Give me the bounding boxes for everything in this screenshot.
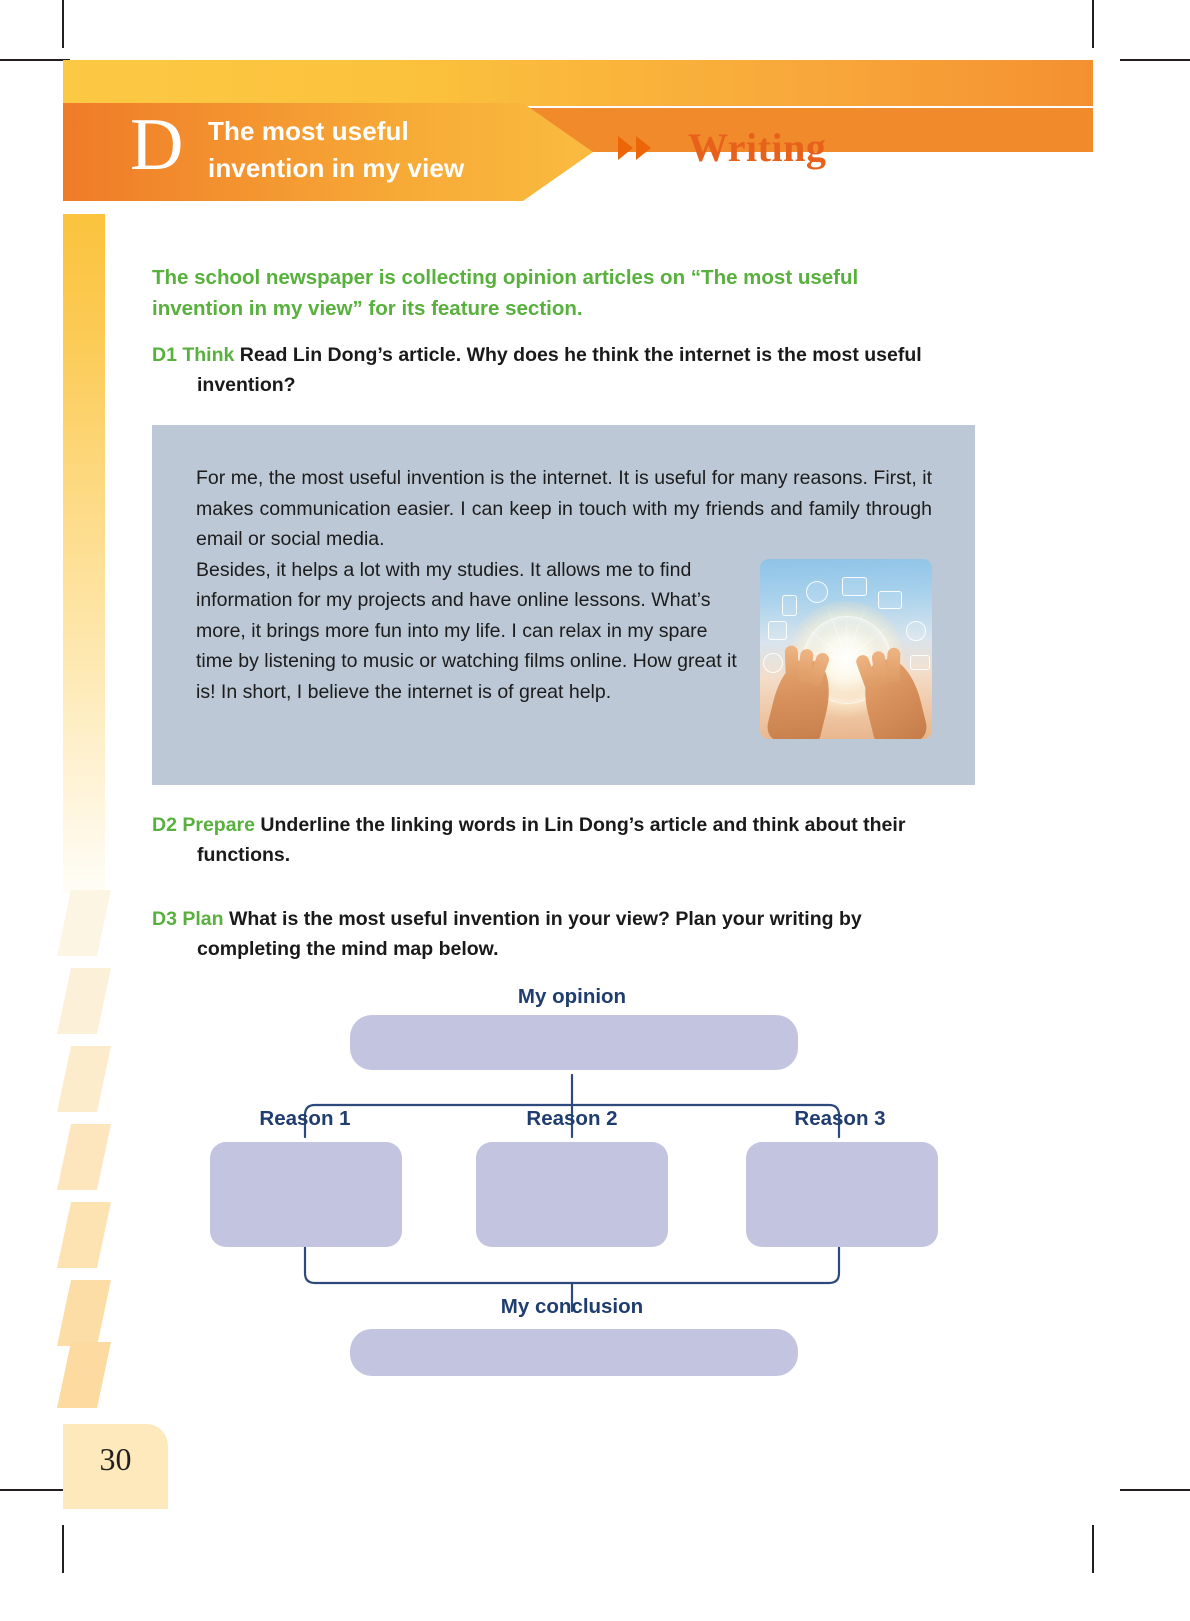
mind-map-reason-3-label: Reason 3 [770,1107,910,1131]
sidebar-stripe [57,890,111,956]
mind-map-conclusion-box[interactable] [350,1329,798,1376]
mind-map-conclusion-label: My conclusion [492,1295,652,1319]
keyboard-icon [910,655,930,670]
camera-icon [906,621,926,641]
unit-title: The most useful invention in my view [208,113,553,187]
sidebar-stripe [57,1124,111,1190]
mind-map: My opinion Reason 1 Reason 2 Reason 3 My… [195,985,965,1385]
mind-map-opinion-label: My opinion [512,985,632,1009]
crop-mark-top-right-horizontal [1120,59,1190,61]
laptop-icon [878,591,902,609]
task-d1-code: D1 [152,344,177,366]
sidebar-stripe [57,1046,111,1112]
sidebar-stripe-pattern [63,890,109,1400]
crop-mark-top-right-vertical [1092,0,1094,48]
sidebar-stripe [57,1342,111,1408]
task-d3-body: What is the most useful invention in you… [197,908,862,960]
page-number: 30 [63,1441,168,1478]
task-d3: D3 Plan What is the most useful inventio… [152,904,962,964]
task-d2-body: Underline the linking words in Lin Dong’… [197,814,905,866]
monitor-icon [842,577,867,596]
mind-map-reason-3-box[interactable] [746,1142,938,1247]
crop-mark-bottom-left-horizontal [0,1489,70,1491]
crop-mark-bottom-right-vertical [1092,1525,1094,1573]
sidebar-stripe [57,968,111,1034]
crop-mark-bottom-right-horizontal [1120,1489,1190,1491]
crop-mark-bottom-left-vertical [62,1525,64,1573]
internet-network-image [760,559,932,739]
header-band-yellow [63,60,1093,106]
sidebar-stripe [57,1202,111,1268]
task-d1-body: Read Lin Dong’s article. Why does he thi… [197,344,922,396]
task-d2-code: D2 [152,814,177,836]
mind-map-reason-2-label: Reason 2 [502,1107,642,1131]
task-d1-verb: Think [182,344,234,366]
crop-mark-top-left-vertical [62,0,64,48]
globe-icon [806,581,828,603]
task-d3-code: D3 [152,908,177,930]
article-paragraph-1: For me, the most useful invention is the… [196,463,932,555]
mind-map-reason-2-box[interactable] [476,1142,668,1247]
mind-map-opinion-box[interactable] [350,1015,798,1070]
network-ray [846,613,847,659]
phone-icon [782,595,797,616]
unit-title-line-1: The most useful [208,113,553,150]
double-chevron-right-icon [618,136,651,160]
sidebar-gradient-bar [63,214,105,894]
article-text: For me, the most useful invention is the… [196,463,932,743]
skill-label: Writing [688,124,826,171]
tablet-icon [768,621,787,640]
unit-letter: D [130,105,183,185]
mind-map-reason-1-label: Reason 1 [235,1107,375,1131]
speaker-icon [763,653,783,673]
sidebar-stripe [57,1280,111,1346]
task-d2: D2 Prepare Underline the linking words i… [152,810,967,870]
textbook-page: D The most useful invention in my view W… [0,0,1190,1621]
finger [886,647,900,681]
chevron-right-icon-2 [636,136,651,160]
task-d3-verb: Plan [182,908,223,930]
unit-title-line-2: invention in my view [208,150,553,187]
chevron-right-icon-1 [618,136,633,160]
intro-paragraph: The school newspaper is collecting opini… [152,262,952,324]
mind-map-reason-1-box[interactable] [210,1142,402,1247]
crop-mark-top-left-horizontal [0,59,70,61]
task-d2-verb: Prepare [182,814,255,836]
task-d1: D1 Think Read Lin Dong’s article. Why do… [152,340,952,400]
